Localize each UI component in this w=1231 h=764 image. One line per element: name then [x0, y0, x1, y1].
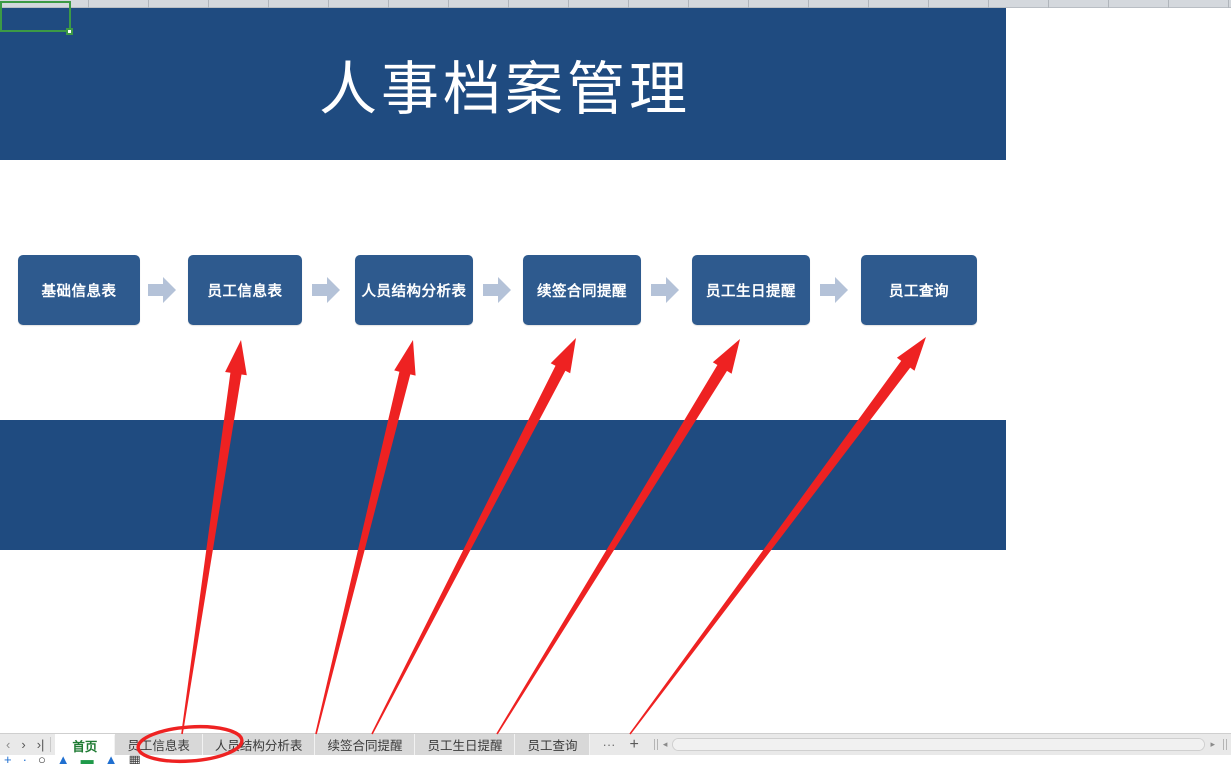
lower-banner	[0, 420, 1006, 550]
scrollbar-thumb[interactable]	[673, 739, 1204, 750]
sheet-tab-tools: ···+	[590, 734, 650, 755]
circle-icon[interactable]: ○	[38, 755, 46, 764]
grid-icon[interactable]: ▦	[129, 755, 141, 764]
column-divider[interactable]	[1108, 0, 1109, 8]
flow-chevron-icon	[483, 277, 511, 303]
sheet-tab-label: 首页	[72, 736, 97, 755]
sheet-tab-5[interactable]: 员工生日提醒	[415, 734, 515, 755]
person-icon[interactable]: ▲	[57, 755, 70, 764]
sheet-tab-3[interactable]: 人员结构分析表	[203, 734, 316, 755]
column-divider[interactable]	[508, 0, 509, 8]
flow-box-label: 基础信息表	[42, 280, 117, 301]
flow-box-2[interactable]: 员工信息表	[188, 255, 302, 325]
more-sheets-button[interactable]: ···	[602, 737, 615, 752]
column-divider[interactable]	[748, 0, 749, 8]
page-title: 人事档案管理	[0, 42, 1006, 126]
column-divider[interactable]	[568, 0, 569, 8]
sheet-tab-label: 员工查询	[527, 735, 577, 754]
clipped-bottom-toolbar: + · ○ ▲ ▬ ▲ ▦	[0, 755, 1231, 764]
sheet-nav-buttons: ‹››|	[0, 734, 48, 755]
bottom-toolbar-icons: + · ○ ▲ ▬ ▲ ▦	[0, 755, 1231, 764]
flow-box-label: 续签合同提醒	[537, 280, 627, 301]
flow-chevron-icon	[651, 277, 679, 303]
column-divider[interactable]	[208, 0, 209, 8]
column-divider[interactable]	[388, 0, 389, 8]
flow-box-label: 员工查询	[889, 280, 949, 301]
column-divider[interactable]	[628, 0, 629, 8]
flow-chevron-icon	[820, 277, 848, 303]
flow-box-label: 人员结构分析表	[362, 280, 467, 301]
column-header-strip[interactable]	[0, 0, 1231, 8]
first-sheet-button[interactable]: ‹	[6, 738, 10, 751]
flow-box-6[interactable]: 员工查询	[861, 255, 977, 325]
add-sheet-button[interactable]: +	[629, 736, 638, 754]
sheet-tab-label: 员工信息表	[127, 735, 190, 754]
column-divider[interactable]	[688, 0, 689, 8]
triangle-icon[interactable]: ▲	[105, 755, 118, 764]
flow-box-label: 员工信息表	[208, 280, 283, 301]
sheet-tab-2[interactable]: 员工信息表	[115, 734, 203, 755]
plus-icon[interactable]: +	[4, 755, 12, 764]
scroll-left-icon[interactable]: ◂	[663, 740, 668, 749]
column-divider[interactable]	[148, 0, 149, 8]
dot-icon[interactable]: ·	[23, 755, 27, 764]
column-divider[interactable]	[448, 0, 449, 8]
sheet-tab-bar: ‹››| 首页员工信息表人员结构分析表续签合同提醒员工生日提醒员工查询 ···+…	[0, 733, 1231, 755]
column-divider[interactable]	[328, 0, 329, 8]
column-divider[interactable]	[988, 0, 989, 8]
flow-box-5[interactable]: 员工生日提醒	[692, 255, 810, 325]
last-sheet-button[interactable]: ›|	[37, 738, 45, 751]
navigation-flow: 基础信息表员工信息表人员结构分析表续签合同提醒员工生日提醒员工查询	[0, 255, 1006, 327]
split-grip-left[interactable]	[654, 739, 655, 750]
column-divider[interactable]	[928, 0, 929, 8]
flow-box-4[interactable]: 续签合同提醒	[523, 255, 641, 325]
spreadsheet-window: 人事档案管理 基础信息表员工信息表人员结构分析表续签合同提醒员工生日提醒员工查询…	[0, 0, 1231, 764]
sheet-tab-label: 人员结构分析表	[215, 735, 303, 754]
table-icon[interactable]: ▬	[81, 755, 94, 764]
scrollbar-track[interactable]	[672, 738, 1205, 751]
column-divider[interactable]	[808, 0, 809, 8]
sheet-tab-label: 员工生日提醒	[427, 735, 502, 754]
flow-box-1[interactable]: 基础信息表	[18, 255, 140, 325]
next-sheet-button[interactable]: ›	[21, 738, 25, 751]
flow-box-label: 员工生日提醒	[706, 280, 796, 301]
nav-divider	[50, 737, 51, 752]
active-cell-selection[interactable]	[0, 1, 71, 32]
column-divider[interactable]	[268, 0, 269, 8]
column-divider[interactable]	[868, 0, 869, 8]
flow-box-3[interactable]: 人员结构分析表	[355, 255, 473, 325]
flow-chevron-icon	[148, 277, 176, 303]
title-banner: 人事档案管理	[0, 8, 1006, 160]
column-divider[interactable]	[1168, 0, 1169, 8]
sheet-tab-label: 续签合同提醒	[327, 735, 402, 754]
horizontal-scrollbar[interactable]: ◂ ▸	[651, 734, 1231, 755]
flow-chevron-icon	[312, 277, 340, 303]
column-divider[interactable]	[1228, 0, 1229, 8]
sheet-tab-4[interactable]: 续签合同提醒	[315, 734, 415, 755]
column-divider[interactable]	[88, 0, 89, 8]
scroll-right-icon[interactable]: ▸	[1210, 740, 1215, 749]
fill-handle[interactable]	[66, 28, 73, 35]
split-grip-right[interactable]	[1223, 739, 1224, 750]
sheet-tabs: 首页员工信息表人员结构分析表续签合同提醒员工生日提醒员工查询	[55, 734, 590, 755]
sheet-tab-1[interactable]: 首页	[55, 734, 115, 755]
sheet-tab-6[interactable]: 员工查询	[515, 734, 590, 755]
column-divider[interactable]	[1048, 0, 1049, 8]
